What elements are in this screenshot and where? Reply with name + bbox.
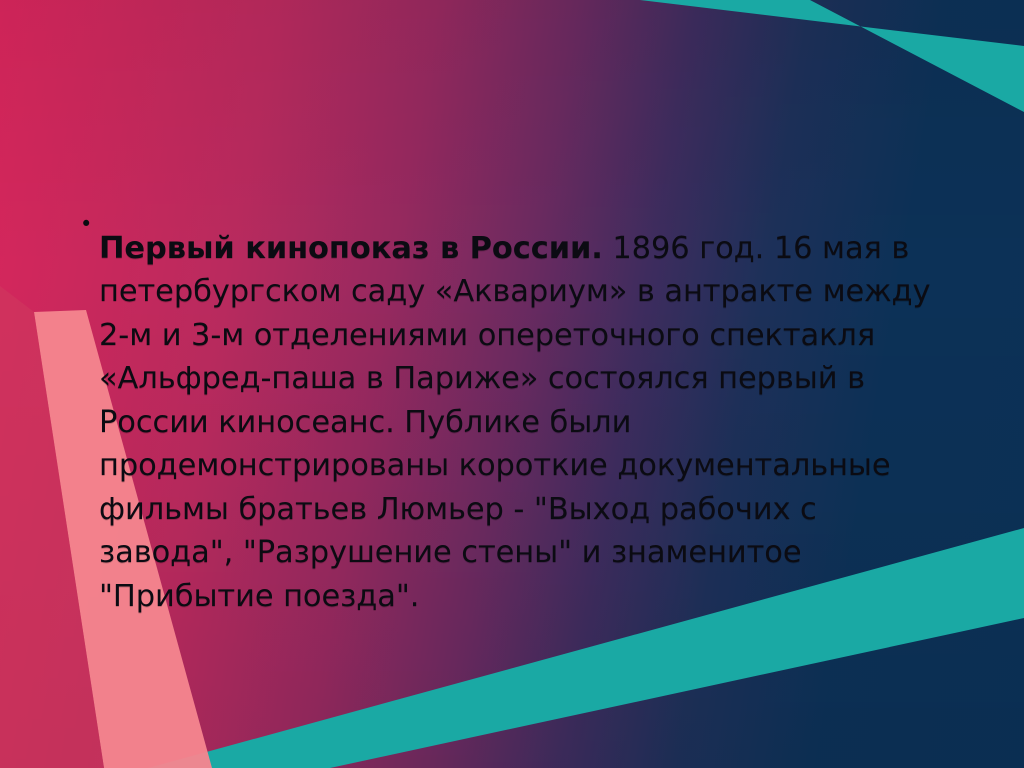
bullet-body-text: 1896 год. 16 мая в петербургском саду «А… xyxy=(99,231,930,614)
slide-body: • Первый кинопоказ в России. 1896 год. 1… xyxy=(80,196,960,649)
bullet-paragraph: Первый кинопоказ в России. 1896 год. 16 … xyxy=(99,227,933,619)
bullet-list-item: • Первый кинопоказ в России. 1896 год. 1… xyxy=(80,196,960,649)
presentation-slide: • Первый кинопоказ в России. 1896 год. 1… xyxy=(0,0,1024,768)
bullet-lead-in: Первый кинопоказ в России. xyxy=(99,231,603,266)
bullet-point-icon: • xyxy=(80,214,99,235)
